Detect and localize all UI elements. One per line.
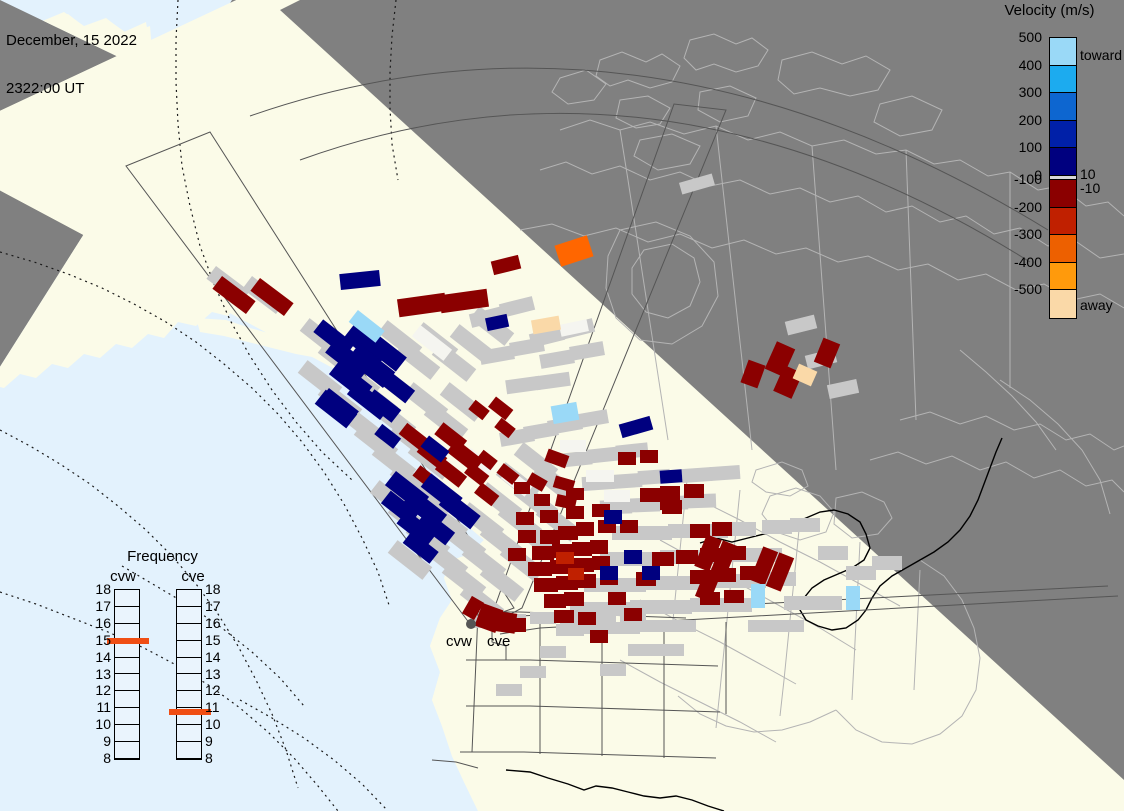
timestamp-time: 2322:00 UT (6, 81, 137, 97)
frequency-bar-cve (176, 589, 202, 760)
frequency-segment (115, 674, 139, 691)
frequency-segment (115, 607, 139, 624)
frequency-scale-label: 14 (89, 650, 111, 664)
frequency-column-cve: cve 18171615141312111098 (163, 568, 223, 783)
frequency-scale-label: 17 (89, 599, 111, 613)
colorbar-inner-high-label: 10 (1080, 167, 1096, 181)
colorbar-tick: 100 (1019, 140, 1042, 154)
colorbar-segment (1050, 290, 1076, 318)
frequency-segment (115, 590, 139, 607)
colorbar-tick: 200 (1019, 113, 1042, 127)
frequency-segment (115, 708, 139, 725)
frequency-scale-label: 10 (205, 717, 227, 731)
colorbar-tick: -500 (1014, 282, 1042, 296)
frequency-segment (177, 742, 201, 759)
frequency-scale-label: 17 (205, 599, 227, 613)
frequency-scale-label: 14 (205, 650, 227, 664)
timestamp-block: December, 15 2022 2322:00 UT (6, 1, 137, 129)
colorbar-tick: -300 (1014, 227, 1042, 241)
radar-site-marker (466, 619, 476, 629)
colorbar-segment (1050, 208, 1076, 236)
frequency-scale-label: 11 (205, 700, 227, 714)
frequency-scale-label: 13 (205, 667, 227, 681)
superdarn-velocity-map: December, 15 2022 2322:00 UT cvw cve Vel… (0, 0, 1124, 811)
frequency-column-cvw: cvw 18171615141312111098 (93, 568, 153, 783)
frequency-segment (177, 725, 201, 742)
colorbar-tick: 400 (1019, 58, 1042, 72)
colorbar-gradient (1049, 37, 1077, 319)
colorbar-segment (1050, 121, 1076, 149)
velocity-colorbar: Velocity (m/s) 5004003002001000-100-200-… (975, 0, 1124, 340)
frequency-segment (115, 725, 139, 742)
frequency-scale-label: 12 (205, 683, 227, 697)
frequency-segment (115, 691, 139, 708)
timestamp-date: December, 15 2022 (6, 33, 137, 49)
colorbar-tick: -200 (1014, 200, 1042, 214)
frequency-scale-label: 16 (205, 616, 227, 630)
colorbar-title: Velocity (m/s) (975, 2, 1124, 19)
colorbar-tick-labels: 5004003002001000-100-200-300-400-500 (975, 30, 1045, 330)
colorbar-tick: -400 (1014, 255, 1042, 269)
colorbar-segment (1050, 263, 1076, 291)
frequency-scale-label: 13 (89, 667, 111, 681)
frequency-segment (177, 624, 201, 641)
frequency-scale-label: 10 (89, 717, 111, 731)
colorbar-tick: -100 (1014, 172, 1042, 186)
colorbar-tick: 500 (1019, 30, 1042, 44)
frequency-segment (177, 691, 201, 708)
site-label-cvw: cvw (446, 633, 472, 650)
colorbar-segment (1050, 93, 1076, 121)
frequency-segment (177, 674, 201, 691)
frequency-legend: Frequency cvw 18171615141312111098 cve 1… (85, 548, 240, 788)
frequency-segment (177, 607, 201, 624)
frequency-bar-cvw (114, 589, 140, 760)
frequency-scale-label: 12 (89, 683, 111, 697)
frequency-scale-label: 18 (89, 582, 111, 596)
frequency-segment (177, 641, 201, 658)
frequency-scale-label: 8 (89, 751, 111, 765)
colorbar-segment (1050, 38, 1076, 66)
colorbar-segment (1050, 66, 1076, 94)
colorbar-segment (1050, 148, 1076, 176)
frequency-segment (177, 590, 201, 607)
frequency-title: Frequency (85, 548, 240, 565)
colorbar-away-label: away (1080, 298, 1113, 312)
colorbar-toward-label: toward (1080, 48, 1122, 62)
colorbar-tick: 300 (1019, 85, 1042, 99)
frequency-scale-label: 9 (89, 734, 111, 748)
frequency-scale-label: 15 (89, 633, 111, 647)
frequency-segment (115, 742, 139, 759)
frequency-segment (115, 658, 139, 675)
colorbar-inner-low-label: -10 (1080, 181, 1100, 195)
colorbar-segment (1050, 235, 1076, 263)
colorbar-segment (1050, 180, 1076, 208)
frequency-scale-label: 9 (205, 734, 227, 748)
frequency-segment (177, 658, 201, 675)
frequency-scale-label: 18 (205, 582, 227, 596)
frequency-marker (107, 638, 149, 644)
frequency-scale-label: 16 (89, 616, 111, 630)
frequency-scale-label: 8 (205, 751, 227, 765)
frequency-scale-label: 11 (89, 700, 111, 714)
colorbar-side-labels: toward10-10away (1080, 30, 1124, 330)
frequency-scale-label: 15 (205, 633, 227, 647)
site-label-cve: cve (487, 633, 510, 650)
